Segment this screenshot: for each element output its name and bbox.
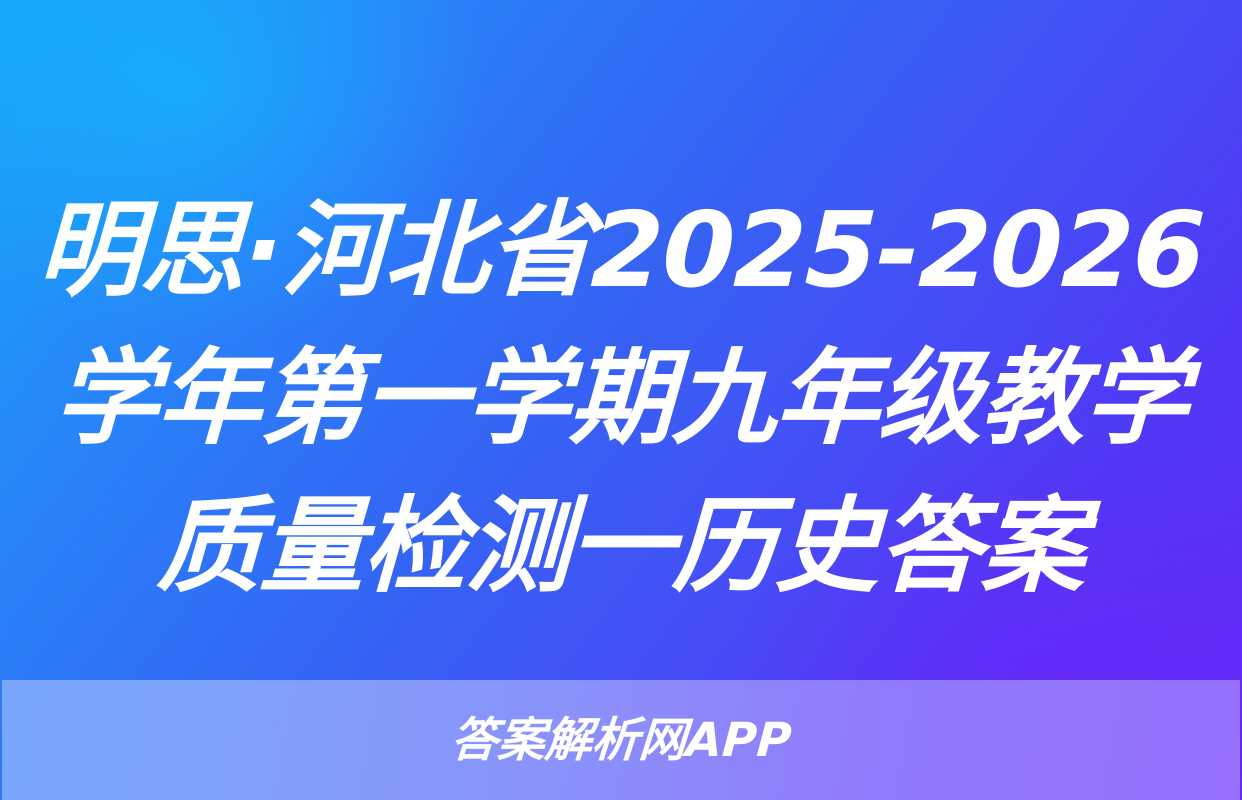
watermark-band: 答案解析网APP	[2, 680, 1240, 800]
poster-title: 明思·河北省2025-2026 学年第一学期九年级教学 质量检测一历史答案	[0, 176, 1242, 620]
title-line-1: 明思·河北省2025-2026	[31, 176, 1210, 324]
title-line-2: 学年第一学期九年级教学	[31, 324, 1210, 472]
answer-cover-poster: 明思·河北省2025-2026 学年第一学期九年级教学 质量检测一历史答案 答案…	[0, 0, 1242, 800]
watermark-text: 答案解析网APP	[449, 717, 793, 764]
title-line-3: 质量检测一历史答案	[31, 472, 1210, 620]
